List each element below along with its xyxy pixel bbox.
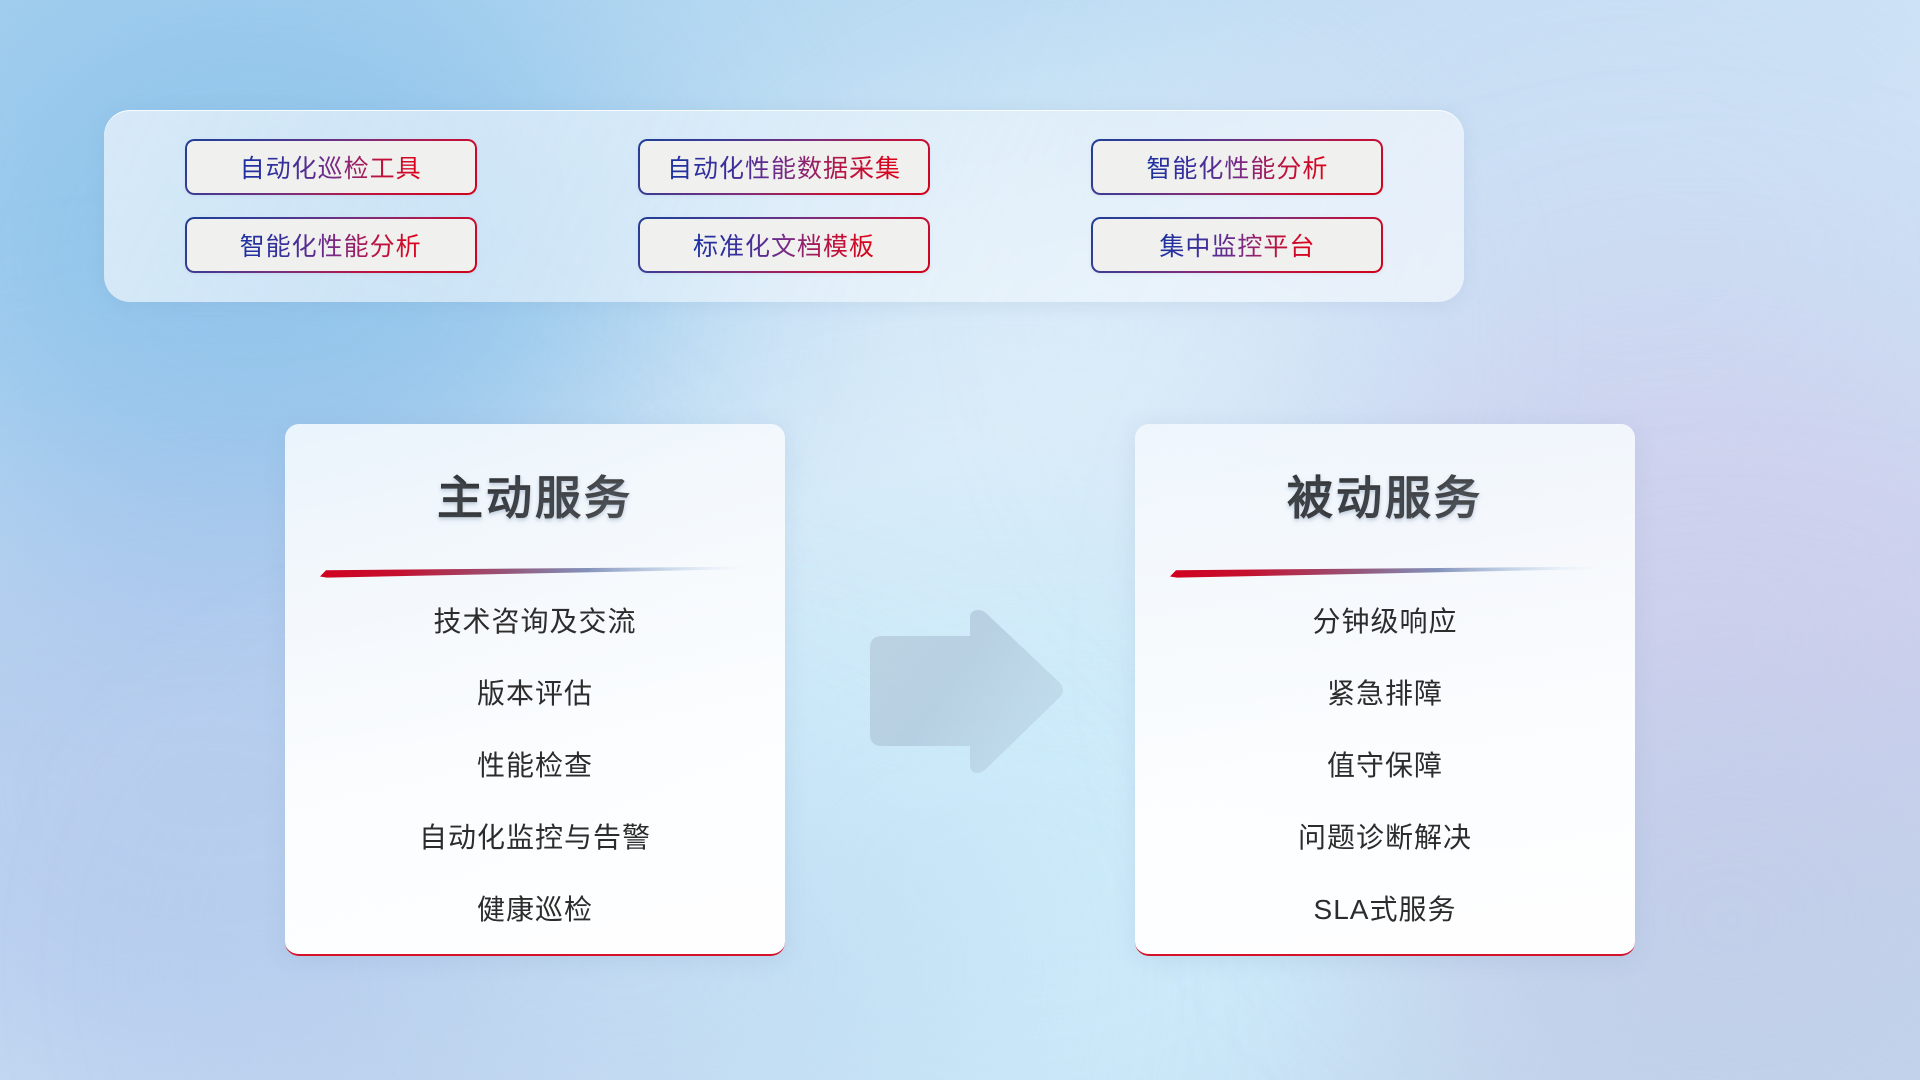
service-item-list-reactive: 分钟级响应 紧急排障 值守保障 问题诊断解决 SLA式服务 — [1135, 578, 1635, 924]
service-card-title: 被动服务 — [1135, 462, 1635, 528]
list-item[interactable]: 问题诊断解决 — [1135, 824, 1635, 852]
tool-button-central-monitoring-platform[interactable]: 集中监控平台 — [1091, 217, 1383, 273]
service-card-title: 主动服务 — [285, 462, 785, 528]
service-card-reactive[interactable]: 被动服务 分钟级响应 紧急排障 值守保障 问题诊断解决 SLA式服务 — [1135, 424, 1635, 956]
tools-panel: 自动化巡检工具 自动化性能数据采集 智能化性能分析 智能化性能分析 标准化文档模… — [104, 110, 1464, 302]
title-divider-proactive — [320, 566, 750, 578]
tool-button-label: 自动化性能数据采集 — [667, 149, 901, 185]
list-item[interactable]: SLA式服务 — [1135, 896, 1635, 924]
tool-button-intelligent-performance-analysis-1[interactable]: 智能化性能分析 — [1091, 139, 1383, 195]
title-divider-reactive — [1170, 566, 1600, 578]
list-item[interactable]: 版本评估 — [285, 680, 785, 708]
list-item[interactable]: 性能检查 — [285, 752, 785, 780]
service-item-list-proactive: 技术咨询及交流 版本评估 性能检查 自动化监控与告警 健康巡检 — [285, 578, 785, 924]
service-card-proactive[interactable]: 主动服务 技术咨询及交流 版本评估 性能检查 自动化监控与告警 健康巡检 — [285, 424, 785, 956]
tool-button-label: 集中监控平台 — [1159, 227, 1315, 263]
tools-grid: 自动化巡检工具 自动化性能数据采集 智能化性能分析 智能化性能分析 标准化文档模… — [104, 110, 1464, 302]
tool-button-label: 自动化巡检工具 — [240, 149, 422, 185]
tool-button-label: 标准化文档模板 — [693, 227, 875, 263]
list-item[interactable]: 自动化监控与告警 — [285, 824, 785, 852]
tool-button-automation-inspection[interactable]: 自动化巡检工具 — [185, 139, 477, 195]
list-item[interactable]: 分钟级响应 — [1135, 608, 1635, 636]
list-item[interactable]: 值守保障 — [1135, 752, 1635, 780]
tool-button-standard-doc-template[interactable]: 标准化文档模板 — [638, 217, 930, 273]
list-item[interactable]: 健康巡检 — [285, 896, 785, 924]
tool-button-performance-data-collection[interactable]: 自动化性能数据采集 — [638, 139, 930, 195]
list-item[interactable]: 紧急排障 — [1135, 680, 1635, 708]
list-item[interactable]: 技术咨询及交流 — [285, 608, 785, 636]
tool-button-label: 智能化性能分析 — [240, 227, 422, 263]
tool-button-intelligent-performance-analysis-2[interactable]: 智能化性能分析 — [185, 217, 477, 273]
tool-button-label: 智能化性能分析 — [1146, 149, 1328, 185]
